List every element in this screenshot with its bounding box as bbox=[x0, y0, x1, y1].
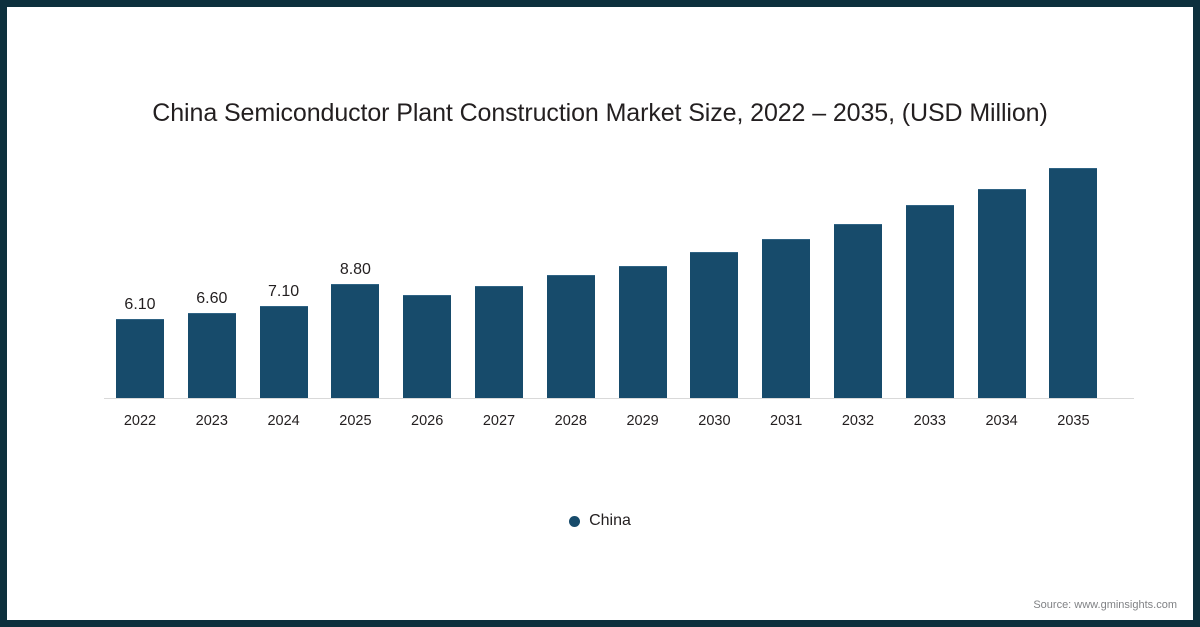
bar-2034[interactable] bbox=[978, 189, 1026, 399]
x-tick-2025: 2025 bbox=[315, 413, 395, 429]
x-tick-2023: 2023 bbox=[172, 413, 252, 429]
x-tick-2024: 2024 bbox=[244, 413, 324, 429]
bar-2026[interactable] bbox=[403, 295, 451, 399]
bar-value-label-2024: 7.10 bbox=[244, 283, 324, 301]
x-tick-2027: 2027 bbox=[459, 413, 539, 429]
bar-2032[interactable] bbox=[834, 224, 882, 399]
bar-value-label-2025: 8.80 bbox=[315, 261, 395, 279]
bar-2022[interactable] bbox=[116, 319, 164, 399]
bar-2027[interactable] bbox=[475, 286, 523, 399]
source-attribution: Source: www.gminsights.com bbox=[1033, 599, 1177, 611]
bar-2028[interactable] bbox=[547, 275, 595, 399]
bar-value-label-2022: 6.10 bbox=[100, 296, 180, 314]
bar-2031[interactable] bbox=[762, 239, 810, 399]
x-tick-2029: 2029 bbox=[603, 413, 683, 429]
x-tick-2033: 2033 bbox=[890, 413, 970, 429]
chart-figure: China Semiconductor Plant Construction M… bbox=[0, 0, 1200, 627]
legend-marker-china-icon bbox=[569, 516, 580, 527]
chart-title: China Semiconductor Plant Construction M… bbox=[7, 99, 1193, 128]
chart-legend: China bbox=[7, 512, 1193, 530]
x-tick-2031: 2031 bbox=[746, 413, 826, 429]
x-tick-2035: 2035 bbox=[1033, 413, 1113, 429]
bar-2035[interactable] bbox=[1049, 168, 1097, 399]
bar-2029[interactable] bbox=[619, 266, 667, 399]
chart-canvas: China Semiconductor Plant Construction M… bbox=[7, 7, 1193, 620]
x-axis-tick-labels: 2022202320242025202620272028202920302031… bbox=[104, 413, 1134, 437]
plot-area: 6.106.607.108.80 bbox=[104, 147, 1134, 399]
bar-2024[interactable] bbox=[260, 306, 308, 399]
bar-value-label-2023: 6.60 bbox=[172, 290, 252, 308]
x-tick-2028: 2028 bbox=[531, 413, 611, 429]
bar-2030[interactable] bbox=[690, 252, 738, 399]
x-tick-2034: 2034 bbox=[962, 413, 1042, 429]
x-tick-2022: 2022 bbox=[100, 413, 180, 429]
x-tick-2032: 2032 bbox=[818, 413, 898, 429]
x-tick-2030: 2030 bbox=[674, 413, 754, 429]
x-axis-line bbox=[104, 398, 1134, 399]
x-tick-2026: 2026 bbox=[387, 413, 467, 429]
legend-label-china: China bbox=[589, 512, 631, 530]
bar-2025[interactable] bbox=[331, 284, 379, 399]
bar-2033[interactable] bbox=[906, 205, 954, 399]
bar-2023[interactable] bbox=[188, 313, 236, 399]
